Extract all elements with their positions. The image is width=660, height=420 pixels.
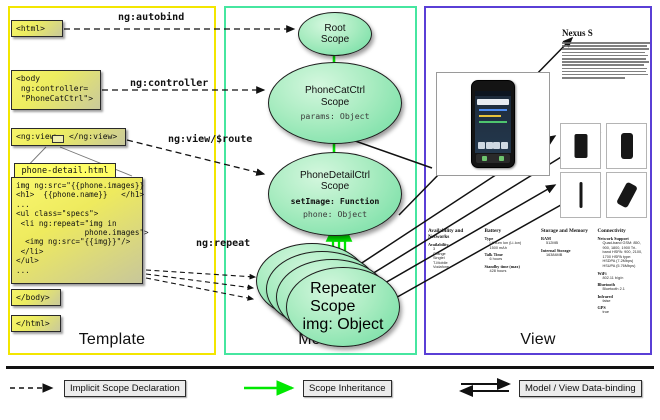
phone-nav-bar	[476, 154, 510, 163]
spec-value-1-1-0: 6 hours	[485, 257, 538, 262]
scope-repeater: Repeater Scope img: Object	[286, 267, 400, 347]
code-body-open: <body ng:controller= "PhoneCatCtrl">	[11, 70, 101, 110]
phone-app-icon-3	[493, 142, 500, 149]
scope-root-line2: Scope	[321, 34, 349, 45]
spec-value-3-3-0: false	[598, 299, 651, 304]
code-body-close: </body>	[11, 289, 61, 306]
phone-app-icon-1	[478, 142, 485, 149]
product-title: Nexus S	[562, 28, 593, 38]
label-ng-repeat: ng:repeat	[196, 238, 250, 249]
specs-table: Availability and Networks Availability 3…	[428, 228, 650, 308]
spec-header-0: Availability and Networks	[428, 228, 481, 240]
legend-divider	[6, 366, 654, 369]
diagram-canvas: Template Model View	[0, 0, 660, 420]
spec-column-connectivity: Connectivity Network Support Quad-band G…	[598, 228, 651, 308]
spec-column-battery: Battery Type Lithium Ion (Li-Ion) 1500 m…	[485, 228, 538, 308]
phone-nav-button-2	[499, 156, 504, 161]
scope-cat-line1: PhoneCatCtrl	[305, 85, 365, 96]
panel-view-label: View	[426, 331, 650, 349]
scope-root-line1: Root	[324, 23, 345, 34]
spec-value-3-1-0: 802.11 b/g/n	[598, 276, 651, 281]
spec-value-0-0-4: Vodafone	[428, 265, 481, 270]
phone-app-icon-4	[501, 142, 508, 149]
legend-label-implicit-scope: Implicit Scope Declaration	[64, 380, 186, 397]
spec-column-availability: Availability and Networks Availability 3…	[428, 228, 481, 308]
product-description	[562, 42, 650, 80]
scope-cat-line2: Scope	[321, 97, 349, 108]
scope-cat-property: params: Object	[300, 111, 369, 121]
phone-app-icon-2	[486, 142, 493, 149]
phone-thumbnail-1[interactable]	[560, 123, 601, 169]
spec-column-storage: Storage and Memory RAM 512MB Internal St…	[541, 228, 594, 308]
scope-detail-line2: Scope	[321, 181, 349, 192]
phone-app-icons	[478, 142, 508, 149]
phone-content-line-2	[479, 115, 501, 117]
legend-label-scope-inheritance: Scope Inheritance	[303, 380, 392, 397]
spec-value-3-4-0: true	[598, 310, 651, 315]
spec-value-1-2-0: 428 hours	[485, 269, 538, 274]
scope-detail-line1: PhoneDetailCtrl	[300, 170, 370, 181]
spec-value-3-0-5: HSUPA (5.76Mbps)	[598, 264, 651, 269]
phone-statusbar	[475, 91, 511, 96]
thumb3-shape	[579, 182, 582, 208]
scope-phonedetailctrl: PhoneDetailCtrl Scope setImage: Function…	[268, 152, 402, 236]
phone-content-line-1	[479, 109, 507, 111]
scope-repeater-property: img: Object	[303, 316, 384, 334]
code-ng-view: <ng:view> </ng:view>	[11, 128, 126, 146]
thumb1-shape	[574, 134, 587, 158]
scope-repeater-line1: Repeater	[310, 280, 376, 297]
spec-header-3: Connectivity	[598, 228, 651, 234]
phone-content-line-3	[479, 121, 507, 123]
scope-phonecatctrl: PhoneCatCtrl Scope params: Object	[268, 62, 402, 144]
phone-thumbnail-2[interactable]	[606, 123, 647, 169]
thumb4-shape	[616, 182, 638, 209]
spec-header-1: Battery	[485, 228, 538, 234]
spec-value-1-0-1: 1500 mAh	[485, 246, 538, 251]
phone-thumbnail-3[interactable]	[560, 172, 601, 218]
spec-value-3-2-0: Bluetooth 2.1	[598, 287, 651, 292]
phone-urlbar	[477, 99, 509, 105]
legend: Implicit Scope Declaration Scope Inherit…	[6, 378, 654, 404]
phone-thumbnail-4[interactable]	[606, 172, 647, 218]
panel-template-label: Template	[10, 331, 214, 349]
spec-value-2-0-0: 512MB	[541, 241, 594, 246]
code-html-close: </html>	[11, 315, 61, 332]
spec-header-2: Storage and Memory	[541, 228, 594, 234]
thumb2-shape	[621, 133, 633, 159]
detail-template-code: img ng:src="{{phone.images}} <h1> {{phon…	[11, 177, 143, 284]
spec-value-2-1-0: 16384MB	[541, 253, 594, 258]
phone-device-image	[471, 80, 515, 168]
label-ng-controller: ng:controller	[130, 78, 208, 89]
scope-repeater-line2: Scope	[310, 298, 355, 315]
label-ng-view-route: ng:view/$route	[168, 134, 252, 145]
phone-nav-button-1	[482, 156, 487, 161]
scope-detail-property-phone: phone: Object	[303, 209, 367, 219]
code-html-open: <html>	[11, 20, 63, 37]
ng-view-slot-icon	[52, 135, 64, 143]
label-ng-autobind: ng:autobind	[118, 12, 184, 23]
scope-detail-property-setimage: setImage: Function	[291, 196, 380, 206]
phone-screen	[475, 91, 511, 153]
legend-label-data-binding: Model / View Data-binding	[519, 380, 642, 397]
scope-root: Root Scope	[298, 12, 372, 56]
